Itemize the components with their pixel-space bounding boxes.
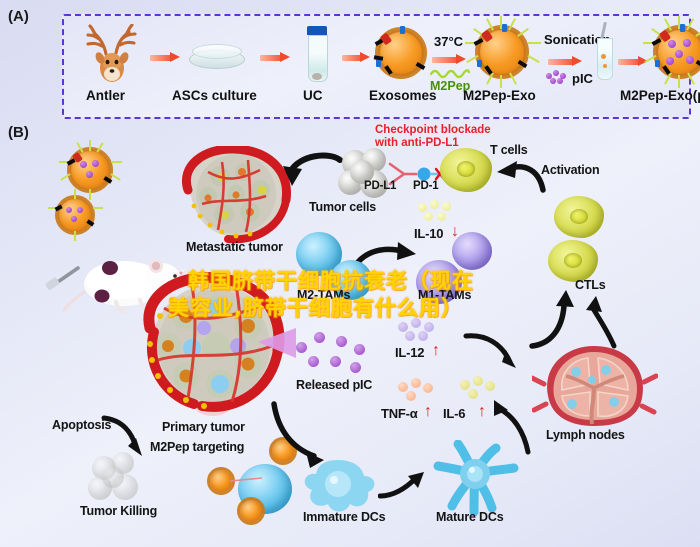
label-released-pic: Released pIC: [296, 378, 372, 392]
process-arrow-4: [432, 54, 466, 65]
petri-dish-illustration: [189, 42, 243, 68]
label-pd-l1: PD-L1: [364, 180, 396, 192]
panel-a-tag: (A): [8, 8, 29, 25]
process-arrow-2: [260, 52, 290, 63]
label-primary-tumor: Primary tumor: [162, 420, 245, 434]
checkpoint-blockade-annotation: Checkpoint blockade with anti-PD-L1: [375, 124, 491, 150]
il6-cytokine-particles: [460, 376, 500, 400]
arrow-lymph-to-ctls-left: [528, 290, 582, 350]
label-ascs-culture: ASCs culture: [172, 88, 257, 103]
tnf-up-arrow: ↑: [424, 403, 432, 421]
figure-canvas: (A): [0, 0, 700, 547]
exosome-vesicle: [378, 30, 424, 76]
lymph-nodes-illustration: [532, 344, 658, 430]
label-tumor-killing: Tumor Killing: [80, 504, 157, 518]
label-temperature: 37°C: [434, 34, 463, 49]
checkpoint-line-1: Checkpoint blockade: [375, 124, 491, 137]
label-il12: IL-12: [395, 345, 424, 360]
label-m2pep-exo-pic: M2Pep-Exo(pIC): [620, 88, 700, 103]
injected-exosome-2: [58, 198, 92, 232]
label-m2pep-exo: M2Pep-Exo: [463, 88, 536, 103]
label-pic: pIC: [572, 71, 593, 86]
arrow-il12-to-lymph: [462, 330, 520, 370]
sonication-tube-illustration: [595, 28, 613, 84]
label-apoptosis: Apoptosis: [52, 418, 111, 432]
dying-tumor-cells: [88, 452, 152, 508]
label-tnf-alpha: TNF-α: [381, 406, 418, 421]
il12-up-arrow: ↑: [432, 342, 440, 360]
tnf-alpha-cytokine-particles: [398, 378, 438, 402]
ctl-cell-2: [548, 240, 598, 282]
process-arrow-5: [548, 56, 582, 67]
label-t-cells: T cells: [490, 143, 528, 157]
injected-exosome-1: [70, 150, 110, 190]
label-immature-dcs: Immature DCs: [303, 510, 385, 524]
released-pic-particles: [296, 332, 372, 378]
label-il6: IL-6: [443, 406, 465, 421]
il6-up-arrow: ↑: [478, 403, 486, 421]
label-tumor-cells: Tumor cells: [309, 200, 376, 214]
immature-dc-cell: [296, 452, 380, 518]
t-cell: [440, 148, 492, 192]
label-lymph-nodes: Lymph nodes: [546, 428, 625, 442]
panel-b-tag: (B): [8, 124, 29, 141]
process-arrow-1: [150, 52, 180, 63]
watermark-line-2: 美容业,脐带干细胞有什么用）: [168, 292, 463, 322]
label-uc: UC: [303, 88, 323, 103]
label-metastatic-tumor: Metastatic tumor: [186, 240, 283, 254]
watermark-line-1: 韩国脐带干细胞抗衰老（现在: [188, 265, 474, 295]
label-activation: Activation: [541, 163, 599, 177]
process-arrow-3: [342, 52, 370, 63]
antler-deer-illustration: [82, 24, 144, 86]
pic-particles-icon: [546, 70, 568, 84]
label-pd-1: PD-1: [413, 180, 438, 192]
arrow-immature-to-mature-dc: [378, 470, 438, 504]
targeting-exosome-3: [240, 500, 262, 522]
label-exosomes: Exosomes: [369, 88, 437, 103]
arrow-lymph-to-ctls-right: [584, 292, 624, 350]
m2pep-exosome-vesicle: [478, 28, 526, 76]
ctl-cell-1: [554, 196, 604, 238]
label-mature-dcs: Mature DCs: [436, 510, 503, 524]
panel-a-container: Antler ASCs culture UC: [62, 14, 691, 119]
label-antler: Antler: [86, 88, 125, 103]
m2pep-exosome-pic-vesicle: [656, 28, 700, 76]
centrifuge-tube-illustration: [307, 26, 327, 88]
